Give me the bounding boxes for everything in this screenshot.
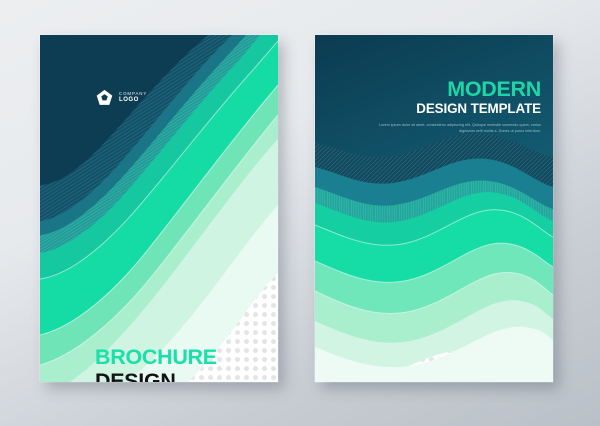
brochure-page-right[interactable]: COMPANY LOGO MODERN DESIGN TEMPLATE Lore… [315, 35, 553, 382]
logo-text-left: COMPANY LOGO [119, 92, 147, 103]
brochure-title-line2: DESIGN [95, 370, 217, 382]
modern-heading: MODERN [371, 79, 541, 101]
logo-line2: LOGO [119, 97, 147, 103]
design-template-subheading: DESIGN TEMPLATE [371, 102, 541, 116]
left-wave-graphic [40, 35, 278, 382]
left-artwork-canvas [40, 35, 278, 382]
brochure-title-line1: BROCHURE [95, 347, 217, 369]
logo-line1: COMPANY [119, 92, 147, 97]
right-page-header: MODERN DESIGN TEMPLATE Lorem ipsum dolor… [371, 79, 541, 134]
brochure-page-left[interactable]: COMPANY LOGO BROCHURE DESIGN www.Company… [40, 35, 278, 382]
pentagon-star-logo-icon [96, 89, 113, 106]
company-logo-left[interactable]: COMPANY LOGO [96, 89, 147, 106]
left-page-footer: BROCHURE DESIGN www.CompanySite.web [95, 347, 217, 382]
lorem-paragraph: Lorem ipsum dolor sit amet, consectetur … [371, 122, 541, 134]
